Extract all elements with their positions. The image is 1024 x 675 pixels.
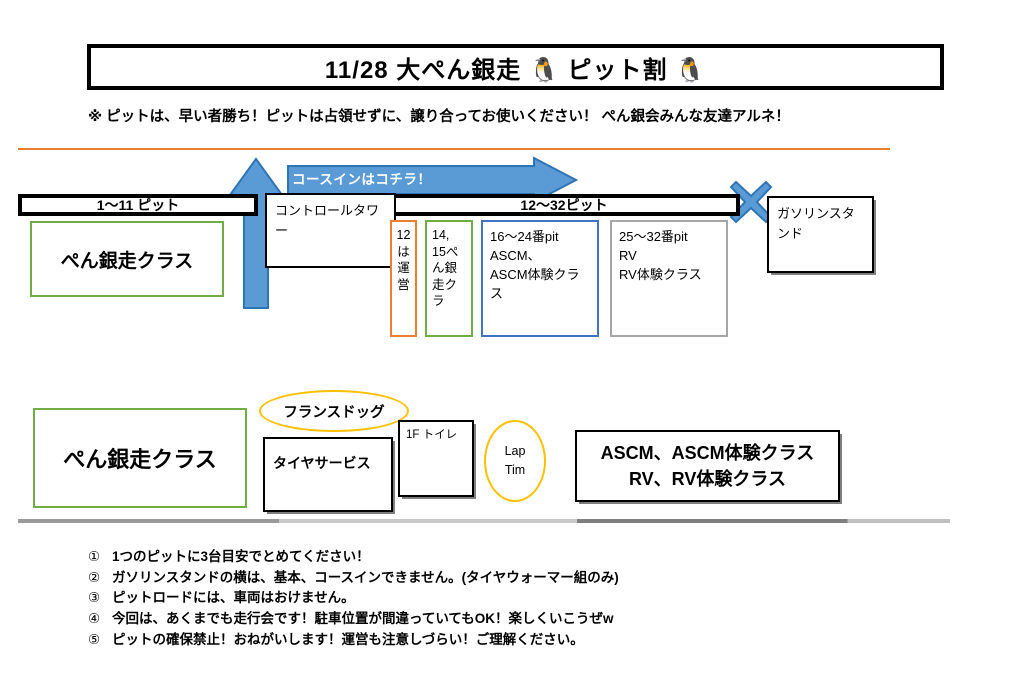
box-tire-service: タイヤサービス (263, 437, 393, 512)
box-pengin-class-top: ぺん銀走クラス (30, 221, 224, 297)
ellipse-lap-time-line1: Lap (505, 442, 526, 461)
footnote-item: ② ガソリンスタンドの横は、基本、コースインできません。(タイヤウォーマー組のみ… (88, 568, 888, 589)
title-banner: 11/28 大ぺん銀走 🐧 ピット割 🐧 (88, 45, 943, 89)
box-pit-16-24-line1: 16〜24番pit (490, 228, 590, 247)
footnote-item: ⑤ ピットの確保禁止！おねがいします！運営も注意しづらい！ご理解ください。 (88, 630, 888, 651)
box-control-tower-label: コントロールタワー (275, 203, 379, 238)
pit-range-label-right: 12〜32ピット (520, 195, 607, 215)
page-title: 11/28 大ぺん銀走 🐧 ピット割 🐧 (325, 50, 706, 85)
box-pit-25-32-line1: 25〜32番pit (619, 228, 719, 247)
footnote-item: ④ 今回は、あくまでも走行会です！駐車位置が間違っていてもOK！楽しくいこうぜw (88, 609, 888, 630)
footnote-number: ③ (88, 588, 112, 609)
box-pengin-class-bottom: ぺん銀走クラス (33, 408, 247, 508)
footnote-number: ⑤ (88, 630, 112, 651)
ellipse-france-dog-label: フランスドッグ (283, 401, 384, 422)
pit-range-bar-left: 1〜11 ピット (18, 194, 258, 216)
box-gas-station-label: ガソリンスタンド (777, 206, 855, 241)
box-pit-25-32-line3: RV体験クラス (619, 266, 719, 285)
box-pengin-class-top-label: ぺん銀走クラス (61, 246, 194, 273)
ellipse-lap-time-line2: Tim (505, 461, 525, 480)
footnote-text: ガソリンスタンドの横は、基本、コースインできません。(タイヤウォーマー組のみ) (112, 568, 619, 589)
box-classes-summary: ASCM、ASCM体験クラス RV、RV体験クラス (575, 430, 840, 502)
footnote-text: ピットの確保禁止！おねがいします！運営も注意しづらい！ご理解ください。 (112, 630, 584, 651)
footnote-number: ② (88, 568, 112, 589)
box-gas-station: ガソリンスタンド (767, 196, 874, 273)
pit-range-bar-right: 12〜32ピット (388, 194, 740, 216)
box-toilet-label: 1F トイレ (406, 429, 457, 441)
box-pengin-class-bottom-label: ぺん銀走クラス (63, 442, 217, 474)
box-pit-12-label: 12は運営 (397, 228, 411, 292)
footnote-item: ③ ピットロードには、車両はおけません。 (88, 588, 888, 609)
box-pit-16-24-line3: ASCM体験クラス (490, 266, 590, 304)
box-tire-service-label: タイヤサービス (273, 455, 371, 471)
pit-range-label-left: 1〜11 ピット (97, 195, 179, 215)
footnote-text: ピットロードには、車両はおけません。 (112, 588, 355, 609)
box-pit-14-15: 14, 15ぺん銀走クラ (425, 220, 473, 337)
box-pit-12: 12は運営 (390, 220, 417, 337)
divider-gray-bottom (18, 519, 950, 523)
box-toilet: 1F トイレ (398, 420, 474, 497)
box-classes-line1: ASCM、ASCM体験クラス (601, 440, 815, 466)
box-pit-25-32: 25〜32番pit RV RV体験クラス (610, 220, 728, 337)
footnote-item: ① 1つのピットに3台目安でとめてください！ (88, 547, 888, 568)
ellipse-france-dog: フランスドッグ (259, 390, 409, 432)
footnote-number: ① (88, 547, 112, 568)
course-in-banner-label: コースインはコチラ！ (292, 168, 431, 188)
footnote-list: ① 1つのピットに3台目安でとめてください！ ② ガソリンスタンドの横は、基本、… (88, 547, 888, 650)
box-pit-16-24-line2: ASCM、 (490, 247, 590, 266)
footnote-text: 1つのピットに3台目安でとめてください！ (112, 547, 370, 568)
divider-orange-top (18, 148, 890, 150)
footnote-number: ④ (88, 609, 112, 630)
box-pit-25-32-line2: RV (619, 247, 719, 266)
notice-text: ※ ピットは、早い者勝ち！ピットは占領せずに、譲り合ってお使いください！ ぺん銀… (88, 105, 948, 126)
box-pit-16-24: 16〜24番pit ASCM、 ASCM体験クラス (481, 220, 599, 337)
box-control-tower: コントロールタワー (265, 193, 396, 268)
ellipse-lap-time: Lap Tim (484, 420, 546, 502)
box-classes-line2: RV、RV体験クラス (629, 466, 786, 492)
footnote-text: 今回は、あくまでも走行会です！駐車位置が間違っていてもOK！楽しくいこうぜw (112, 609, 614, 630)
box-pit-14-15-label: 14, 15ぺん銀走クラ (432, 228, 458, 308)
